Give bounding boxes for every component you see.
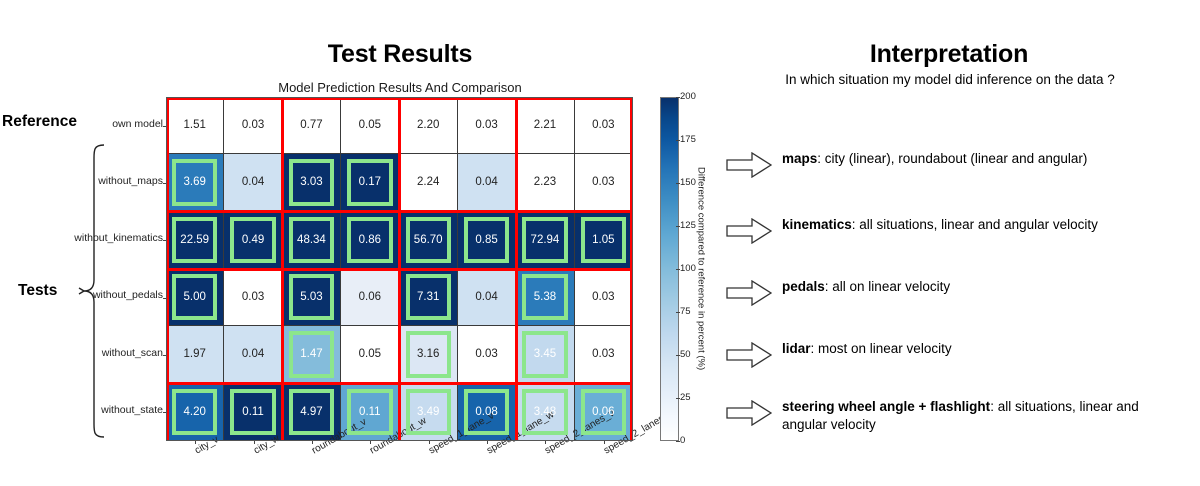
heatmap-cell-value: 5.03 <box>300 291 322 303</box>
heatmap-cell: 7.31 <box>400 269 458 326</box>
heatmap-cell-value: 0.03 <box>592 119 614 131</box>
heatmap-cell-value: 0.03 <box>242 119 264 131</box>
colorbar-tick-mark <box>676 441 680 442</box>
heatmap-cell-value: 1.05 <box>592 234 614 246</box>
heatmap-cell-value: 2.24 <box>417 176 439 188</box>
heatmap-cell: 4.97 <box>283 384 341 441</box>
heatmap-cell-value: 4.20 <box>183 406 205 418</box>
colorbar-tick-mark <box>676 226 680 227</box>
heatmap-cell-value: 1.47 <box>300 348 322 360</box>
heatmap-cell-value: 7.31 <box>417 291 439 303</box>
x-tick-mark <box>545 440 546 444</box>
arrow-right-icon <box>726 280 772 306</box>
heatmap-cell-value: 3.03 <box>300 176 322 188</box>
heatmap-cell-value: 3.45 <box>534 348 556 360</box>
heatmap-cell: 0.03 <box>458 326 516 383</box>
colorbar-tick-mark <box>676 269 680 270</box>
heatmap-cell: 5.00 <box>166 269 224 326</box>
heatmap-cell-value: 2.21 <box>534 119 556 131</box>
heatmap-cell: 2.23 <box>516 154 574 211</box>
interpretation-text: kinematics: all situations, linear and a… <box>782 216 1182 234</box>
interpretation-item: lidar: most on linear velocity <box>726 340 1182 368</box>
colorbar-tick-mark <box>676 312 680 313</box>
heatmap-cell: 0.03 <box>575 326 633 383</box>
heatmap-cell-value: 0.04 <box>242 176 264 188</box>
interpretation-text: steering wheel angle + flashlight: all s… <box>782 398 1182 434</box>
heatmap-cell-value: 1.51 <box>183 119 205 131</box>
x-tick-mark <box>487 440 488 444</box>
x-tick-mark <box>254 440 255 444</box>
heatmap-cell-value: 3.69 <box>183 176 205 188</box>
heatmap-cell: 0.03 <box>575 97 633 154</box>
heatmap-cell: 0.06 <box>341 269 399 326</box>
heatmap-cell: 2.21 <box>516 97 574 154</box>
heatmap-cell-value: 0.04 <box>475 291 497 303</box>
heatmap-cell: 0.03 <box>575 154 633 211</box>
heatmap-cell-value: 0.17 <box>359 176 381 188</box>
heatmap-cell-value: 0.86 <box>359 234 381 246</box>
heatmap-cell-value: 0.06 <box>592 406 614 418</box>
heatmap-cell-value: 0.03 <box>475 348 497 360</box>
heatmap-cell: 0.17 <box>341 154 399 211</box>
heatmap-cell-value: 0.49 <box>242 234 264 246</box>
heatmap-cell-value: 0.03 <box>592 176 614 188</box>
heatmap-cell-value: 1.97 <box>183 348 205 360</box>
heatmap-cell: 0.49 <box>224 212 282 269</box>
heatmap-cell: 0.03 <box>224 269 282 326</box>
heatmap-cell: 72.94 <box>516 212 574 269</box>
heatmap-cell-value: 0.11 <box>359 406 381 418</box>
heatmap-cell-value: 3.16 <box>417 348 439 360</box>
heatmap-cell: 5.38 <box>516 269 574 326</box>
interpretation-term: steering wheel angle + flashlight <box>782 399 990 414</box>
heatmap-cell-value: 0.85 <box>475 234 497 246</box>
arrow-right-icon <box>726 342 772 368</box>
colorbar-tick-mark <box>676 183 680 184</box>
heatmap-cell: 3.69 <box>166 154 224 211</box>
heatmap-cell-value: 5.00 <box>183 291 205 303</box>
interpretation-term: maps <box>782 151 817 166</box>
heatmap-cell-value: 2.20 <box>417 119 439 131</box>
heatmap-cell: 0.11 <box>224 384 282 441</box>
interpretation-term: pedals <box>782 279 825 294</box>
heatmap-cell-value: 0.03 <box>592 348 614 360</box>
interpretation-text: lidar: most on linear velocity <box>782 340 1182 358</box>
colorbar-tick: 75 <box>680 306 691 317</box>
colorbar-label: Difference compared to reference in perc… <box>694 97 708 441</box>
heatmap-cell: 22.59 <box>166 212 224 269</box>
heatmap-cell-value: 0.03 <box>592 291 614 303</box>
x-tick-mark <box>370 440 371 444</box>
heatmap-cell-value: 0.08 <box>475 406 497 418</box>
heatmap-cell-value: 0.03 <box>242 291 264 303</box>
heatmap-cell: 4.20 <box>166 384 224 441</box>
heatmap-cell: 48.34 <box>283 212 341 269</box>
arrow-right-icon <box>726 152 772 178</box>
interpretation-item: pedals: all on linear velocity <box>726 278 1182 306</box>
heatmap-cell-value: 22.59 <box>180 234 209 246</box>
heatmap-cell: 3.16 <box>400 326 458 383</box>
heatmap-cell-value: 0.77 <box>300 119 322 131</box>
colorbar-tick-mark <box>676 97 680 98</box>
colorbar-tick-label: 0 <box>680 435 685 446</box>
heatmap-cell: 0.85 <box>458 212 516 269</box>
heatmap-cell-value: 56.70 <box>414 234 443 246</box>
colorbar-tick: 0 <box>680 435 685 446</box>
heatmap-cell: 5.03 <box>283 269 341 326</box>
interpretation-text: maps: city (linear), roundabout (linear … <box>782 150 1182 168</box>
x-tick-mark <box>429 440 430 444</box>
y-tick-label: without_pedals <box>13 289 163 301</box>
heatmap-cell: 0.86 <box>341 212 399 269</box>
heatmap-cell-value: 5.38 <box>534 291 556 303</box>
chart-title: Model Prediction Results And Comparison <box>166 80 634 95</box>
heatmap-cell: 0.05 <box>341 326 399 383</box>
interpretation-item: steering wheel angle + flashlight: all s… <box>726 398 1182 434</box>
heatmap-cell: 0.03 <box>575 269 633 326</box>
heatmap-cell: 1.47 <box>283 326 341 383</box>
heatmap-cell: 0.04 <box>224 326 282 383</box>
y-tick-label: without_state <box>13 404 163 416</box>
x-tick-mark <box>312 440 313 444</box>
heatmap-cell: 1.51 <box>166 97 224 154</box>
heatmap-cell-value: 72.94 <box>531 234 560 246</box>
heatmap-cell: 1.97 <box>166 326 224 383</box>
heatmap-cell: 2.24 <box>400 154 458 211</box>
heatmap-cell-value: 0.04 <box>475 176 497 188</box>
colorbar-tick-mark <box>676 140 680 141</box>
colorbar-tick: 50 <box>680 349 691 360</box>
heatmap-cell: 0.03 <box>224 97 282 154</box>
heatmap-cell: 0.04 <box>458 154 516 211</box>
heatmap-cell: 0.03 <box>458 97 516 154</box>
x-tick-mark <box>604 440 605 444</box>
colorbar-tick-mark <box>676 355 680 356</box>
heatmap-plot-area: 1.510.030.770.052.200.032.210.033.690.04… <box>166 97 633 441</box>
heatmap-cell: 0.04 <box>224 154 282 211</box>
heatmap-cell: 0.77 <box>283 97 341 154</box>
heatmap-cell-value: 0.11 <box>242 406 264 418</box>
heatmap-x-axis: city_vcity_wroundabout_vroundabout_wspee… <box>166 443 633 486</box>
heatmap-cell: 0.05 <box>341 97 399 154</box>
heatmap-cell-value: 3.49 <box>417 406 439 418</box>
colorbar-tick-label: 75 <box>680 306 691 317</box>
heatmap-cell: 1.05 <box>575 212 633 269</box>
x-tick-mark <box>195 440 196 444</box>
heatmap-cell: 0.04 <box>458 269 516 326</box>
heatmap-cell-value: 2.23 <box>534 176 556 188</box>
y-tick-label: without_kinematics <box>13 232 163 244</box>
interpretation-item: maps: city (linear), roundabout (linear … <box>726 150 1182 178</box>
interpretation-term: kinematics <box>782 217 852 232</box>
y-tick-label: without_maps <box>13 175 163 187</box>
y-tick-label: own model <box>13 118 163 130</box>
heatmap-cell: 3.45 <box>516 326 574 383</box>
heatmap-cell: 2.20 <box>400 97 458 154</box>
colorbar-tick-label: 25 <box>680 392 691 403</box>
heatmap-cell-value: 0.03 <box>475 119 497 131</box>
arrow-right-icon <box>726 218 772 244</box>
heatmap-cell-value: 4.97 <box>300 406 322 418</box>
heatmap-cell-value: 0.05 <box>359 348 381 360</box>
interpretation-subtitle: In which situation my model did inferenc… <box>760 72 1140 87</box>
heatmap-cell-value: 0.06 <box>359 291 381 303</box>
heatmap-y-axis: own model without_maps without_kinematic… <box>8 97 163 441</box>
colorbar-tick: 25 <box>680 392 691 403</box>
y-tick-label: without_scan <box>13 347 163 359</box>
heatmap-cell-value: 0.05 <box>359 119 381 131</box>
page-title-interpretation: Interpretation <box>800 40 1098 69</box>
arrow-right-icon <box>726 400 772 426</box>
colorbar-tick-label: 50 <box>680 349 691 360</box>
heatmap-cell-value: 48.34 <box>297 234 326 246</box>
interpretation-item: kinematics: all situations, linear and a… <box>726 216 1182 244</box>
colorbar-tick-mark <box>676 398 680 399</box>
page-title-test-results: Test Results <box>264 40 536 69</box>
heatmap-cell: 56.70 <box>400 212 458 269</box>
interpretation-term: lidar <box>782 341 811 356</box>
heatmap-grid: 1.510.030.770.052.200.032.210.033.690.04… <box>166 97 633 441</box>
heatmap-cell: 3.03 <box>283 154 341 211</box>
interpretation-text: pedals: all on linear velocity <box>782 278 1182 296</box>
heatmap-cell-value: 3.48 <box>534 406 556 418</box>
heatmap-cell-value: 0.04 <box>242 348 264 360</box>
